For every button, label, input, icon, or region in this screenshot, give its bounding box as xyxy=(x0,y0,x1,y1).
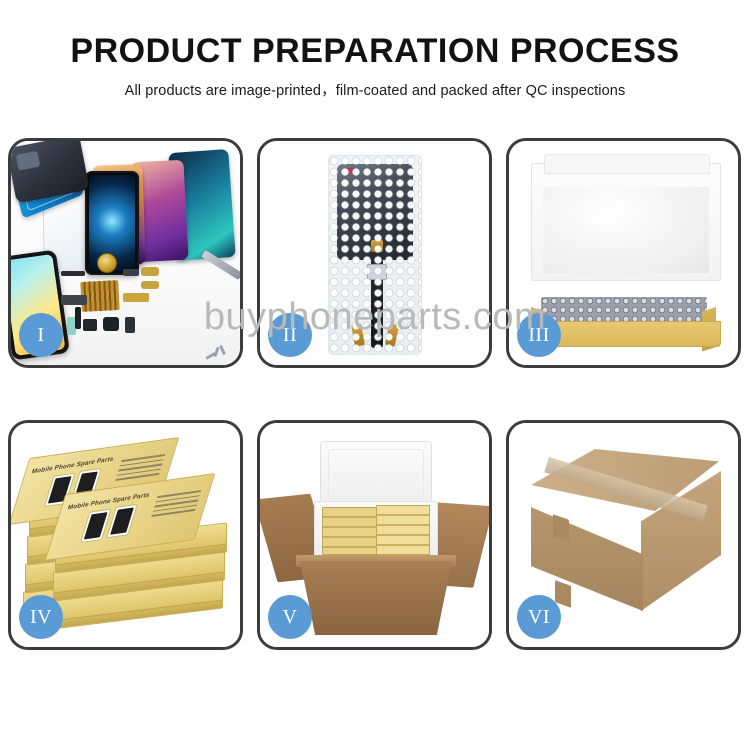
step-badge-1: I xyxy=(19,313,63,357)
lid-flap-icon xyxy=(544,154,710,174)
box-spec-lines-icon xyxy=(150,490,201,520)
foam-cooler-lid-icon xyxy=(320,441,432,507)
part-icon xyxy=(123,269,139,276)
process-step-5[interactable]: V xyxy=(257,420,492,650)
part-icon xyxy=(103,317,119,331)
step-badge-4: IV xyxy=(19,595,63,639)
page-root: PRODUCT PREPARATION PROCESS All products… xyxy=(0,0,750,750)
process-step-1[interactable]: I xyxy=(8,138,243,368)
process-step-2[interactable]: II xyxy=(257,138,492,368)
part-icon xyxy=(141,267,159,276)
part-icon xyxy=(141,281,159,289)
page-subtitle: All products are image-printed，film-coat… xyxy=(0,79,750,100)
carton-front-icon xyxy=(531,493,643,611)
packed-boxes-icon xyxy=(376,505,430,555)
step-badge-5: V xyxy=(268,595,312,639)
carton-seal-icon xyxy=(555,580,571,608)
step-badge-6: VI xyxy=(517,595,561,639)
process-steps-grid: I II xyxy=(8,138,742,650)
bubble-wrap-bag-icon xyxy=(328,155,422,355)
step-badge-3: III xyxy=(517,313,561,357)
bubble-padding-icon xyxy=(541,297,707,323)
foam-sheet-icon xyxy=(543,187,709,273)
part-icon xyxy=(75,307,81,329)
carton-body-icon xyxy=(300,561,452,635)
step-badge-2: II xyxy=(268,313,312,357)
part-icon xyxy=(125,317,135,333)
page-title: PRODUCT PREPARATION PROCESS xyxy=(0,34,750,70)
speaker-coil-icon xyxy=(97,253,117,273)
box-spec-lines-icon xyxy=(114,454,165,484)
part-icon xyxy=(123,293,149,302)
part-icon xyxy=(61,295,87,305)
process-step-3[interactable]: III xyxy=(506,138,741,368)
process-step-6[interactable]: VI xyxy=(506,420,741,650)
part-icon xyxy=(83,319,97,331)
bubble-texture-icon xyxy=(329,156,421,354)
header: PRODUCT PREPARATION PROCESS All products… xyxy=(0,0,750,100)
part-icon xyxy=(61,271,85,276)
process-step-4[interactable]: Mobile Phone Spare Parts Mobile Phone Sp… xyxy=(8,420,243,650)
screw-icon xyxy=(219,345,226,355)
